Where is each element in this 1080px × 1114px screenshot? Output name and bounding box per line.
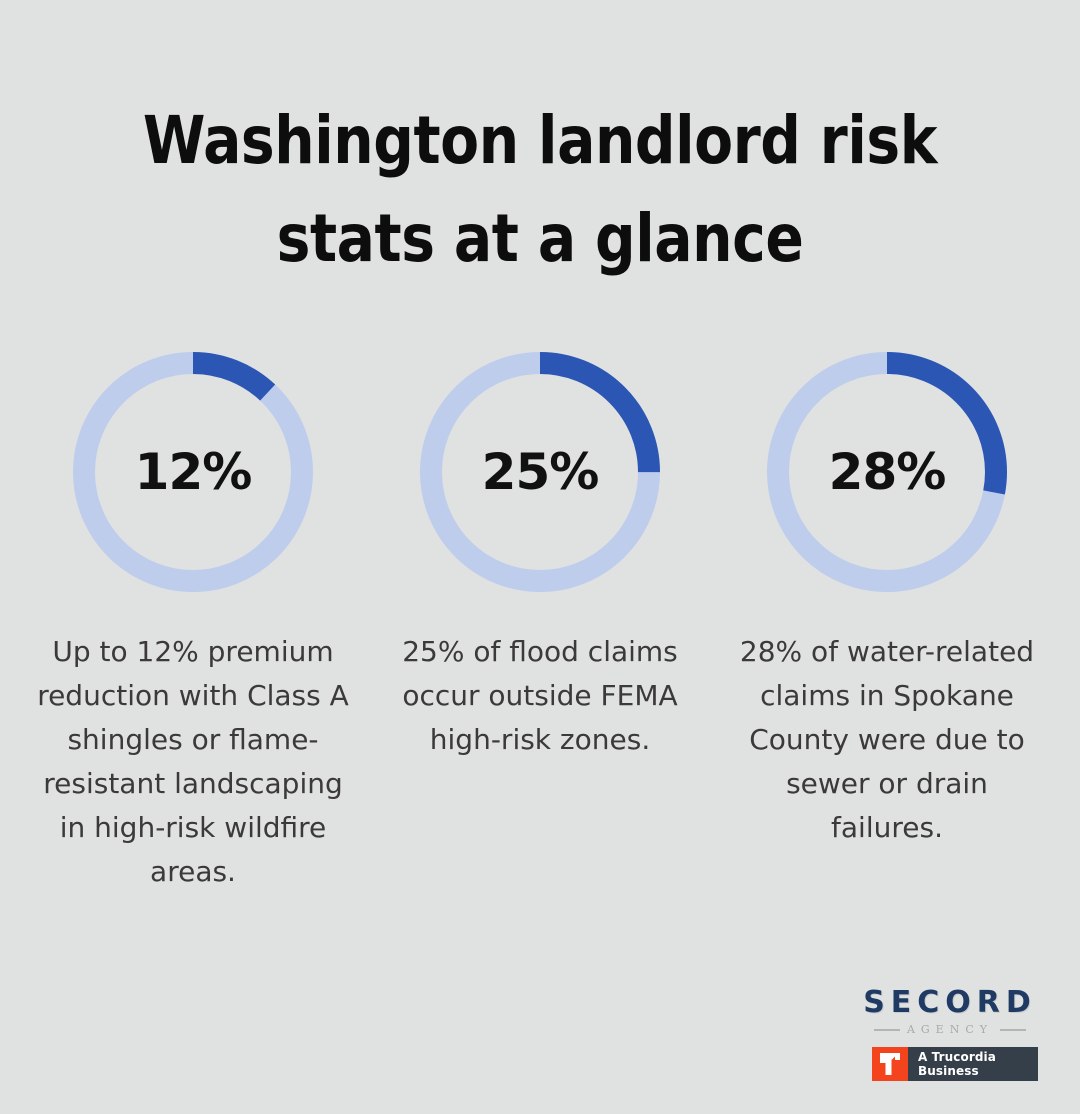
logo-agency-text: AGENCY [907, 1023, 993, 1037]
donut-value-2: 25% [420, 352, 660, 592]
donut-chart-2: 25% [420, 352, 660, 592]
logo-subline: AGENCY [862, 1023, 1038, 1037]
stat-caption-1: Up to 12% premium reduction with Class A… [34, 630, 352, 894]
donut-chart-3: 28% [767, 352, 1007, 592]
logo-wordmark: SECORD [862, 986, 1038, 1020]
title-line-1: Washington landlord risk [127, 92, 953, 190]
stats-row: 12% Up to 12% premium reduction with Cla… [20, 352, 1060, 894]
brand-logo: SECORD AGENCY A Trucordia Business [862, 986, 1038, 1081]
trucordia-badge: A Trucordia Business [872, 1047, 1038, 1081]
stat-caption-2: 25% of flood claims occur outside FEMA h… [381, 630, 699, 762]
stat-column-1: 12% Up to 12% premium reduction with Cla… [20, 352, 366, 894]
title-line-2: stats at a glance [127, 190, 953, 288]
donut-value-3: 28% [767, 352, 1007, 592]
trucordia-badge-text: A Trucordia Business [908, 1047, 1038, 1081]
stat-column-2: 25% 25% of flood claims occur outside FE… [367, 352, 713, 762]
trucordia-t-glyph [872, 1047, 908, 1081]
stat-caption-3: 28% of water-related claims in Spokane C… [728, 630, 1046, 850]
donut-value-1: 12% [73, 352, 313, 592]
infographic-canvas: Washington landlord risk stats at a glan… [0, 0, 1080, 1114]
trucordia-t-icon [872, 1047, 908, 1081]
stat-column-3: 28% 28% of water-related claims in Spoka… [714, 352, 1060, 850]
logo-rule-right [1000, 1029, 1026, 1031]
donut-chart-1: 12% [73, 352, 313, 592]
logo-rule-left [874, 1029, 900, 1031]
page-title: Washington landlord risk stats at a glan… [60, 92, 1020, 288]
